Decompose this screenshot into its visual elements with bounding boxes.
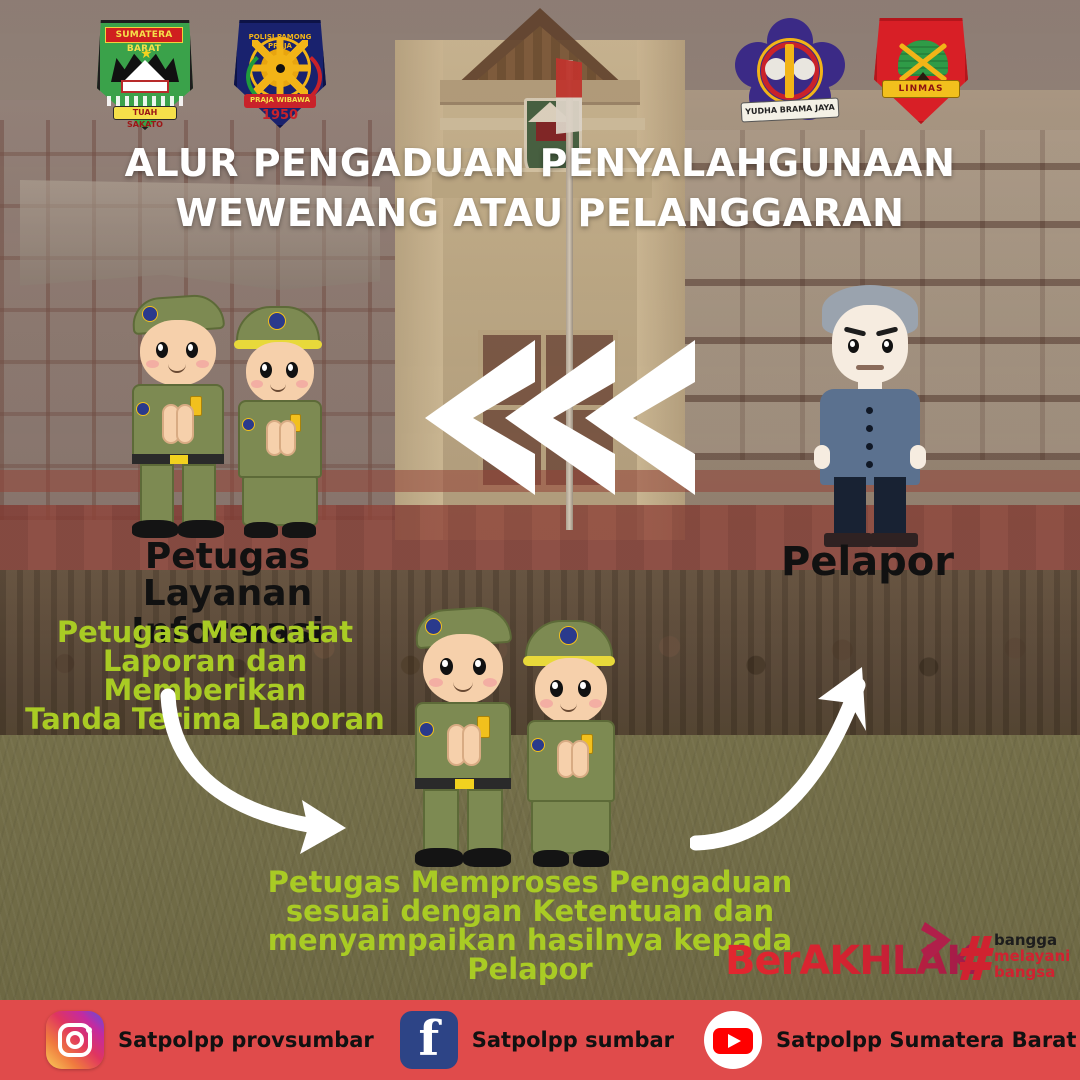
reporter-character bbox=[800, 285, 940, 545]
linmas-scroll-label: LINMAS bbox=[883, 81, 959, 97]
instagram-icon[interactable] bbox=[46, 1011, 104, 1069]
reporter-leg-left bbox=[834, 477, 866, 539]
title-line-2: WEWENANG ATAU PELANGGARAN bbox=[0, 188, 1080, 238]
instagram-handle: Satpolpp provsumbar bbox=[118, 1028, 374, 1052]
flow-chevrons bbox=[425, 340, 695, 495]
officer-pair-top bbox=[118, 296, 348, 546]
officer-skirt bbox=[242, 476, 318, 526]
arrow-process-to-reporter bbox=[690, 655, 890, 855]
tagline-block: bangga melayani bangsa bbox=[994, 932, 1080, 980]
praja-wibawa-ribbon: PRAJA WIBAWA bbox=[244, 94, 316, 108]
polisi-pamong-praja-emblem: POLISI PAMONG PRAJA PRAJA WIBAWA 1950 bbox=[234, 20, 326, 128]
sumbar-band: SUMATERA BARAT bbox=[105, 27, 183, 43]
tagline-line-3: bangsa bbox=[994, 964, 1080, 980]
sumbar-motto-label: TUAH SAKATO bbox=[114, 107, 176, 131]
reporter-leg-right bbox=[874, 477, 906, 539]
reporter-hand-right bbox=[910, 445, 926, 469]
pamong-praja-year: 1950 bbox=[244, 108, 316, 123]
berakhlak-chevron-icon bbox=[921, 922, 955, 962]
linmas-emblem: LINMAS bbox=[874, 18, 968, 124]
reporter-hand-left bbox=[814, 445, 830, 469]
youtube-handle: Satpolpp Sumatera Barat bbox=[776, 1028, 1076, 1052]
step-1-line-1: Petugas Mencatat bbox=[5, 618, 405, 647]
tagline-line-2: melayani bbox=[994, 948, 1080, 964]
reporter-eye-left bbox=[848, 339, 859, 353]
youtube-entry[interactable]: Satpolpp Sumatera Barat bbox=[704, 1011, 1076, 1069]
step-2-line-2: sesuai dengan Ketentuan dan bbox=[240, 897, 820, 926]
facebook-entry[interactable]: f Satpolpp sumbar bbox=[400, 1011, 674, 1069]
step-2-line-1: Petugas Memproses Pengaduan bbox=[240, 868, 820, 897]
sumbar-motto-scroll: TUAH SAKATO bbox=[113, 106, 177, 120]
reporter-face bbox=[832, 305, 908, 383]
hash-icon bbox=[960, 936, 994, 980]
yudha-banner: YUDHA BRAMA JAYA bbox=[741, 97, 840, 122]
yudha-banner-label: YUDHA BRAMA JAYA bbox=[742, 99, 839, 122]
pamong-praja-top-label: POLISI PAMONG PRAJA bbox=[246, 33, 314, 59]
water-lines-icon bbox=[107, 96, 183, 106]
youtube-icon[interactable] bbox=[704, 1011, 762, 1069]
page-title: ALUR PENGADUAN PENYALAHGUNAAN WEWENANG A… bbox=[0, 138, 1080, 238]
arrow-officer-to-process bbox=[150, 688, 380, 858]
hand-left-icon bbox=[765, 58, 787, 80]
berakhlak-logo: BerAKHLAK bbox=[725, 930, 955, 986]
social-footer-bar: Satpolpp provsumbar f Satpolpp sumbar Sa… bbox=[0, 1000, 1080, 1080]
officer-role-line-1: Petugas bbox=[55, 538, 400, 575]
facebook-handle: Satpolpp sumbar bbox=[472, 1028, 674, 1052]
tagline-line-1: bangga bbox=[994, 932, 1080, 948]
yudha-brama-jaya-emblem: YUDHA BRAMA JAYA bbox=[735, 18, 845, 126]
flower-shape: YUDHA BRAMA JAYA bbox=[735, 18, 845, 126]
reporter-jacket bbox=[820, 389, 920, 485]
reporter-eye-right bbox=[882, 339, 893, 353]
reporter-mouth bbox=[856, 365, 884, 370]
officer-skirt-bottom bbox=[531, 800, 611, 854]
reporter-role-label: Pelapor bbox=[760, 542, 975, 584]
infographic-poster: SUMATERA BARAT ★ TUAH SAKATO POLISI PAMO… bbox=[0, 0, 1080, 1080]
torch-icon bbox=[785, 44, 794, 98]
praja-wibawa-label: PRAJA WIBAWA bbox=[244, 94, 316, 107]
facebook-icon[interactable]: f bbox=[400, 1011, 458, 1069]
rumah-gadang-base bbox=[121, 80, 169, 93]
officer-pair-bottom bbox=[403, 608, 643, 870]
title-line-1: ALUR PENGADUAN PENYALAHGUNAAN bbox=[0, 138, 1080, 188]
sumatera-barat-emblem: SUMATERA BARAT ★ TUAH SAKATO bbox=[97, 20, 193, 130]
linmas-scroll: LINMAS bbox=[882, 80, 960, 98]
bangga-melayani-bangsa-logo: bangga melayani bangsa bbox=[960, 930, 1080, 986]
instagram-entry[interactable]: Satpolpp provsumbar bbox=[46, 1011, 374, 1069]
hand-right-icon bbox=[793, 58, 815, 80]
